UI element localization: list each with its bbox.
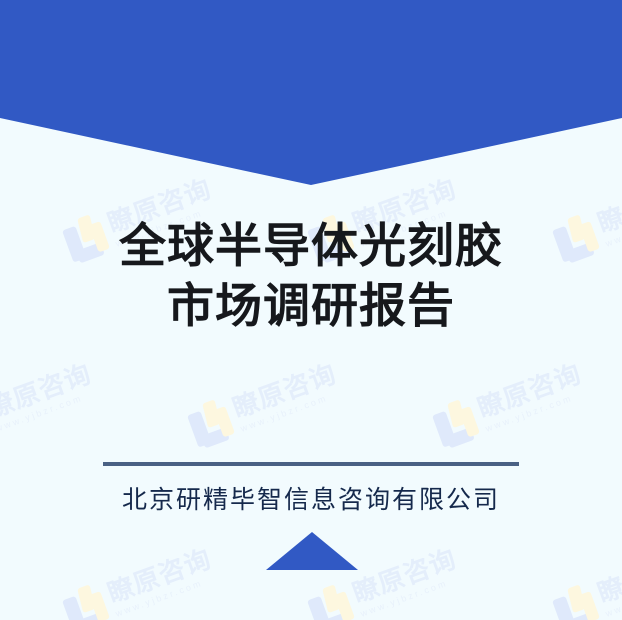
watermark-text-group: 瞭原咨询www.yjbzr.com — [349, 545, 464, 619]
report-cover: 瞭原咨询www.yjbzr.com瞭原咨询www.yjbzr.com瞭原咨询ww… — [0, 0, 622, 620]
watermark-text-group: 瞭原咨询www.yjbzr.com — [229, 360, 344, 434]
liaoyuan-logo-mark-icon — [430, 396, 483, 451]
liaoyuan-logo-mark-icon — [185, 396, 238, 451]
watermark-brand-text: 瞭原咨询 — [104, 545, 214, 606]
publisher-name: 北京研精毕智信息咨询有限公司 — [0, 480, 622, 516]
page-title-line-1: 全球半导体光刻胶 — [0, 216, 622, 276]
watermark-brand-text: 瞭原咨询 — [229, 360, 339, 421]
watermark-brand-text: 瞭原咨询 — [349, 545, 459, 606]
triangle-up-icon — [266, 532, 358, 570]
watermark-url-text: www.yjbzr.com — [0, 388, 99, 433]
liaoyuan-logo-mark-icon — [550, 581, 603, 620]
publisher-divider — [103, 462, 519, 466]
watermark-brand-text: 瞭原咨询 — [0, 360, 94, 421]
page-title-line-2: 市场调研报告 — [0, 276, 622, 336]
watermark-url-text: www.yjbzr.com — [604, 573, 622, 618]
watermark-url-text: www.yjbzr.com — [239, 388, 344, 433]
header-banner — [0, 0, 622, 190]
watermark-brand-text: 瞭原咨询 — [594, 545, 622, 606]
watermark-tile: 瞭原咨询www.yjbzr.com — [185, 357, 345, 451]
watermark-tile: 瞭原咨询www.yjbzr.com — [430, 357, 590, 451]
watermark-url-text: www.yjbzr.com — [359, 573, 464, 618]
watermark-tile: 瞭原咨询www.yjbzr.com — [60, 542, 220, 620]
watermark-tile: 瞭原咨询www.yjbzr.com — [0, 357, 100, 451]
watermark-url-text: www.yjbzr.com — [114, 573, 219, 618]
watermark-brand-text: 瞭原咨询 — [474, 360, 584, 421]
watermark-url-text: www.yjbzr.com — [484, 388, 589, 433]
watermark-text-group: 瞭原咨询www.yjbzr.com — [104, 545, 219, 619]
page-title: 全球半导体光刻胶 市场调研报告 — [0, 216, 622, 336]
watermark-text-group: 瞭原咨询www.yjbzr.com — [474, 360, 589, 434]
watermark-text-group: 瞭原咨询www.yjbzr.com — [0, 360, 99, 434]
publisher-block: 北京研精毕智信息咨询有限公司 — [0, 462, 622, 516]
liaoyuan-logo-mark-icon — [60, 581, 113, 620]
watermark-tile: 瞭原咨询www.yjbzr.com — [550, 542, 622, 620]
watermark-text-group: 瞭原咨询www.yjbzr.com — [594, 545, 622, 619]
liaoyuan-logo-mark-icon — [305, 581, 358, 620]
